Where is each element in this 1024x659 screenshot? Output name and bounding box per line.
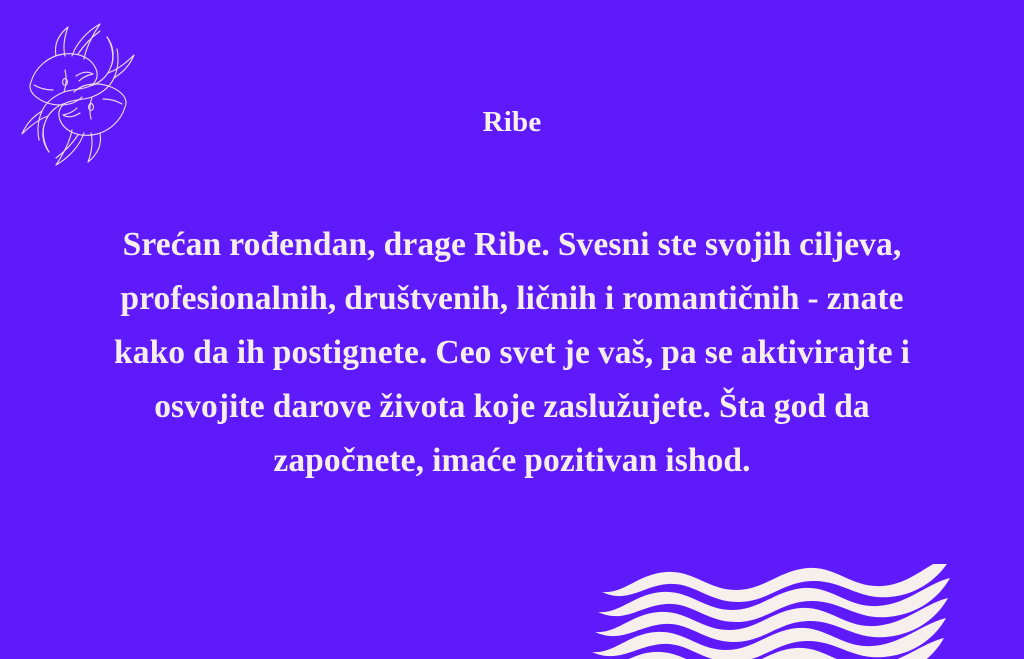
waves-icon [590, 564, 1024, 659]
horoscope-body-text: Srećan rođendan, drage Ribe. Svesni ste … [92, 218, 932, 488]
horoscope-card: Ribe Srećan rođendan, drage Ribe. Svesni… [0, 0, 1024, 659]
pisces-zodiac-icon [8, 12, 148, 177]
page-title: Ribe [0, 107, 1024, 139]
